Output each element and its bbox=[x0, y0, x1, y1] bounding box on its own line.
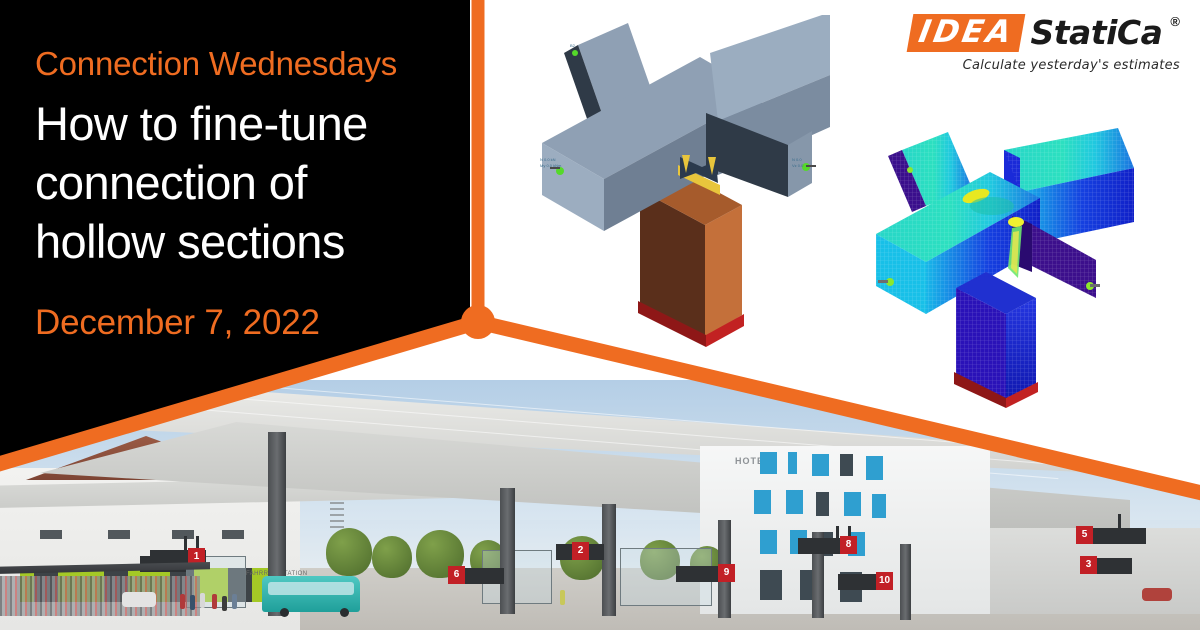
title-line-2: connection of bbox=[35, 153, 465, 212]
logo-idea-mark: IDEA bbox=[907, 14, 1026, 52]
title-line-1: How to fine-tune bbox=[35, 94, 465, 153]
event-date: December 7, 2022 bbox=[35, 302, 465, 344]
registered-trademark-icon: ® bbox=[1170, 14, 1180, 29]
idea-statica-logo: IDEA StatiCa ® Calculate yesterday's est… bbox=[880, 14, 1180, 73]
logo-lockup: IDEA StatiCa ® bbox=[880, 14, 1180, 52]
divider-right-diagonal-member bbox=[478, 322, 1200, 494]
divider-joint-node bbox=[461, 305, 495, 339]
webinar-banner: FAHRRAD STATION HOTEL bbox=[0, 0, 1200, 630]
page-title: How to fine-tune connection of hollow se… bbox=[35, 94, 465, 271]
logo-statica-wordmark: StatiCa bbox=[1031, 14, 1163, 51]
series-eyebrow: Connection Wednesdays bbox=[35, 44, 465, 84]
title-line-3: hollow sections bbox=[35, 212, 465, 271]
logo-tagline: Calculate yesterday's estimates bbox=[880, 58, 1180, 73]
text-block: Connection Wednesdays How to fine-tune c… bbox=[35, 44, 465, 344]
